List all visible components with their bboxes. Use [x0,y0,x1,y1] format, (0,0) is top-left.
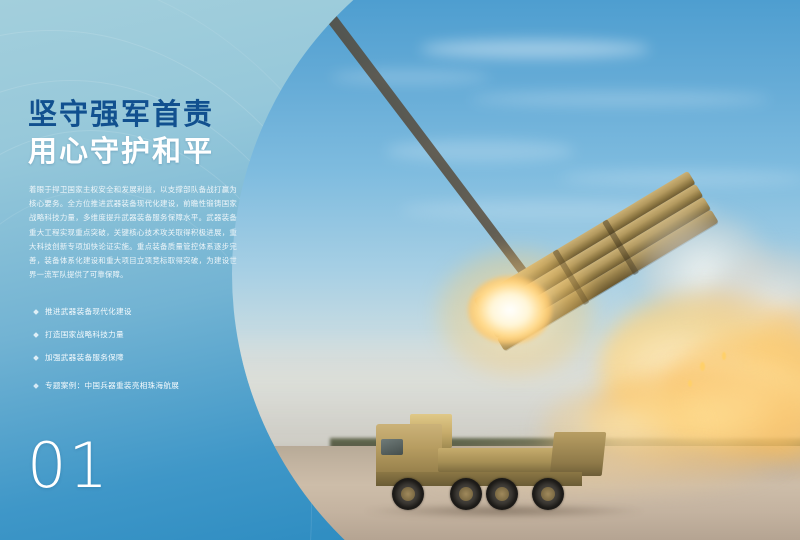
wheel-hub [495,487,509,501]
text-panel: 坚守强军首责 用心守护和平 着眼于捍卫国家主权安全和发展利益，以支撑部队备战打赢… [0,0,300,540]
launcher-truck [376,414,626,520]
bullet-list: 推进武器装备现代化建设 打造国家战略科技力量 加强武器装备服务保障 专题案例：中… [34,300,274,397]
wheel-hub [459,487,473,501]
body-paragraph: 着眼于捍卫国家主权安全和发展利益，以支撑部队备战打赢为核心要务。全方位推进武器装… [29,183,237,283]
list-item[interactable]: 推进武器装备现代化建设 [34,300,274,323]
launch-flash-core [468,276,552,344]
page-title: 坚守强军首责 用心守护和平 [28,96,288,169]
ember-particle [688,380,692,387]
slide-number: 01 [27,435,110,497]
truck-wheel [486,478,518,510]
list-item-label: 专题案例：中国兵器重装亮相珠海航展 [45,380,179,391]
list-item[interactable]: 加强武器装备服务保障 [34,346,274,369]
list-item-label: 推进武器装备现代化建设 [45,306,132,317]
rocket-launcher-photo [232,0,800,540]
title-line-2: 用心守护和平 [28,133,288,170]
truck-wheel [532,478,564,510]
list-item[interactable]: 打造国家战略科技力量 [34,323,274,346]
wheel-hub [401,487,415,501]
launcher-base [550,432,607,476]
list-item-label: 打造国家战略科技力量 [45,329,124,340]
diamond-bullet-icon [33,332,39,338]
title-line-1: 坚守强军首责 [28,96,288,133]
truck-wheel [392,478,424,510]
diamond-bullet-icon [33,355,39,361]
ember-particle [700,362,705,371]
wheel-hub [541,487,555,501]
diamond-bullet-icon [33,309,39,315]
list-item-case-study[interactable]: 专题案例：中国兵器重装亮相珠海航展 [34,374,274,397]
cab-window [381,439,403,455]
truck-wheel [450,478,482,510]
list-item-label: 加强武器装备服务保障 [45,352,124,363]
ember-particle [722,352,726,360]
slide-root: 坚守强军首责 用心守护和平 着眼于捍卫国家主权安全和发展利益，以支撑部队备战打赢… [0,0,800,540]
diamond-bullet-icon [33,383,39,389]
truck-cab [376,424,442,476]
photo-circle-mask [232,0,800,540]
